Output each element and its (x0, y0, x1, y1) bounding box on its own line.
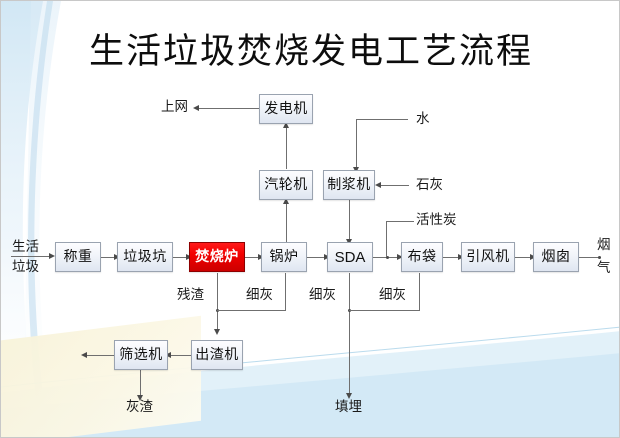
terminal-landfill: 填埋 (335, 399, 362, 416)
terminal-flue-gas-char1: 烟 (597, 237, 611, 254)
terminal-grid: 上网 (161, 99, 188, 116)
node-generator[interactable]: 发电机 (259, 94, 313, 124)
junction-dot-fluegas (598, 256, 601, 259)
terminal-input-waste-line2: 垃圾 (12, 259, 39, 276)
node-steam-turbine[interactable]: 汽轮机 (259, 170, 313, 200)
edge-residue-vertical (217, 273, 218, 331)
edge-boilerash-vertical (285, 273, 286, 311)
edge-label-fineash-sda: 细灰 (309, 287, 336, 304)
arrowhead-slagger (214, 329, 220, 335)
arrowhead-screener-out (81, 352, 87, 358)
terminal-activated-carbon: 活性炭 (416, 212, 457, 229)
edge-screener-out (85, 355, 114, 356)
node-id-fan[interactable]: 引风机 (461, 242, 515, 272)
edge-sda-ash-vertical (349, 273, 350, 395)
node-slag-discharger[interactable]: 出渣机 (191, 340, 243, 370)
edge-turbine-to-generator (286, 124, 287, 169)
terminal-lime: 石灰 (416, 177, 443, 194)
terminal-input-waste-line1: 生活 (12, 239, 39, 256)
node-sda[interactable]: SDA (327, 242, 373, 272)
terminal-ash-slag: 灰渣 (126, 399, 153, 416)
background-cream-shape (0, 316, 201, 438)
slide-canvas: 生活垃圾焚烧发电工艺流程 (0, 0, 620, 438)
edge-label-residue: 残渣 (177, 287, 204, 304)
edge-slagger-to-screener (169, 355, 191, 356)
node-screening-machine[interactable]: 筛选机 (114, 340, 168, 370)
node-boiler[interactable]: 锅炉 (261, 242, 307, 272)
edge-pulper-to-sda (349, 200, 350, 242)
page-title: 生活垃圾焚烧发电工艺流程 (1, 23, 620, 74)
edge-lime-to-pulper (379, 185, 409, 186)
edge-generator-to-grid (197, 108, 259, 109)
edge-carbon-horizontal (386, 221, 414, 222)
node-stack[interactable]: 烟囱 (533, 242, 579, 272)
arrowhead-grid (193, 105, 199, 111)
node-waste-pit[interactable]: 垃圾坑 (117, 242, 173, 272)
node-weigh[interactable]: 称重 (55, 242, 101, 272)
edge-screener-to-ashslag (140, 370, 141, 397)
terminal-water: 水 (416, 111, 430, 128)
edge-carbon-vertical (386, 221, 387, 257)
edge-input-underline (11, 256, 53, 257)
node-pulper[interactable]: 制浆机 (323, 170, 375, 200)
edge-label-fineash-bag: 细灰 (379, 287, 406, 304)
terminal-flue-gas-char2: 气 (597, 260, 611, 277)
node-incinerator[interactable]: 焚烧炉 (189, 242, 245, 272)
edge-water-horizontal (356, 119, 408, 120)
edge-boiler-to-turbine (286, 200, 287, 242)
edge-water-vertical (356, 119, 357, 169)
edge-boilerash-horizontal (217, 310, 286, 311)
edge-bagash-vertical (419, 273, 420, 311)
edge-bagash-horizontal (349, 310, 420, 311)
edge-label-fineash-boiler: 细灰 (246, 287, 273, 304)
arrowhead-pulper-lime (375, 182, 381, 188)
node-bag-filter[interactable]: 布袋 (401, 242, 443, 272)
